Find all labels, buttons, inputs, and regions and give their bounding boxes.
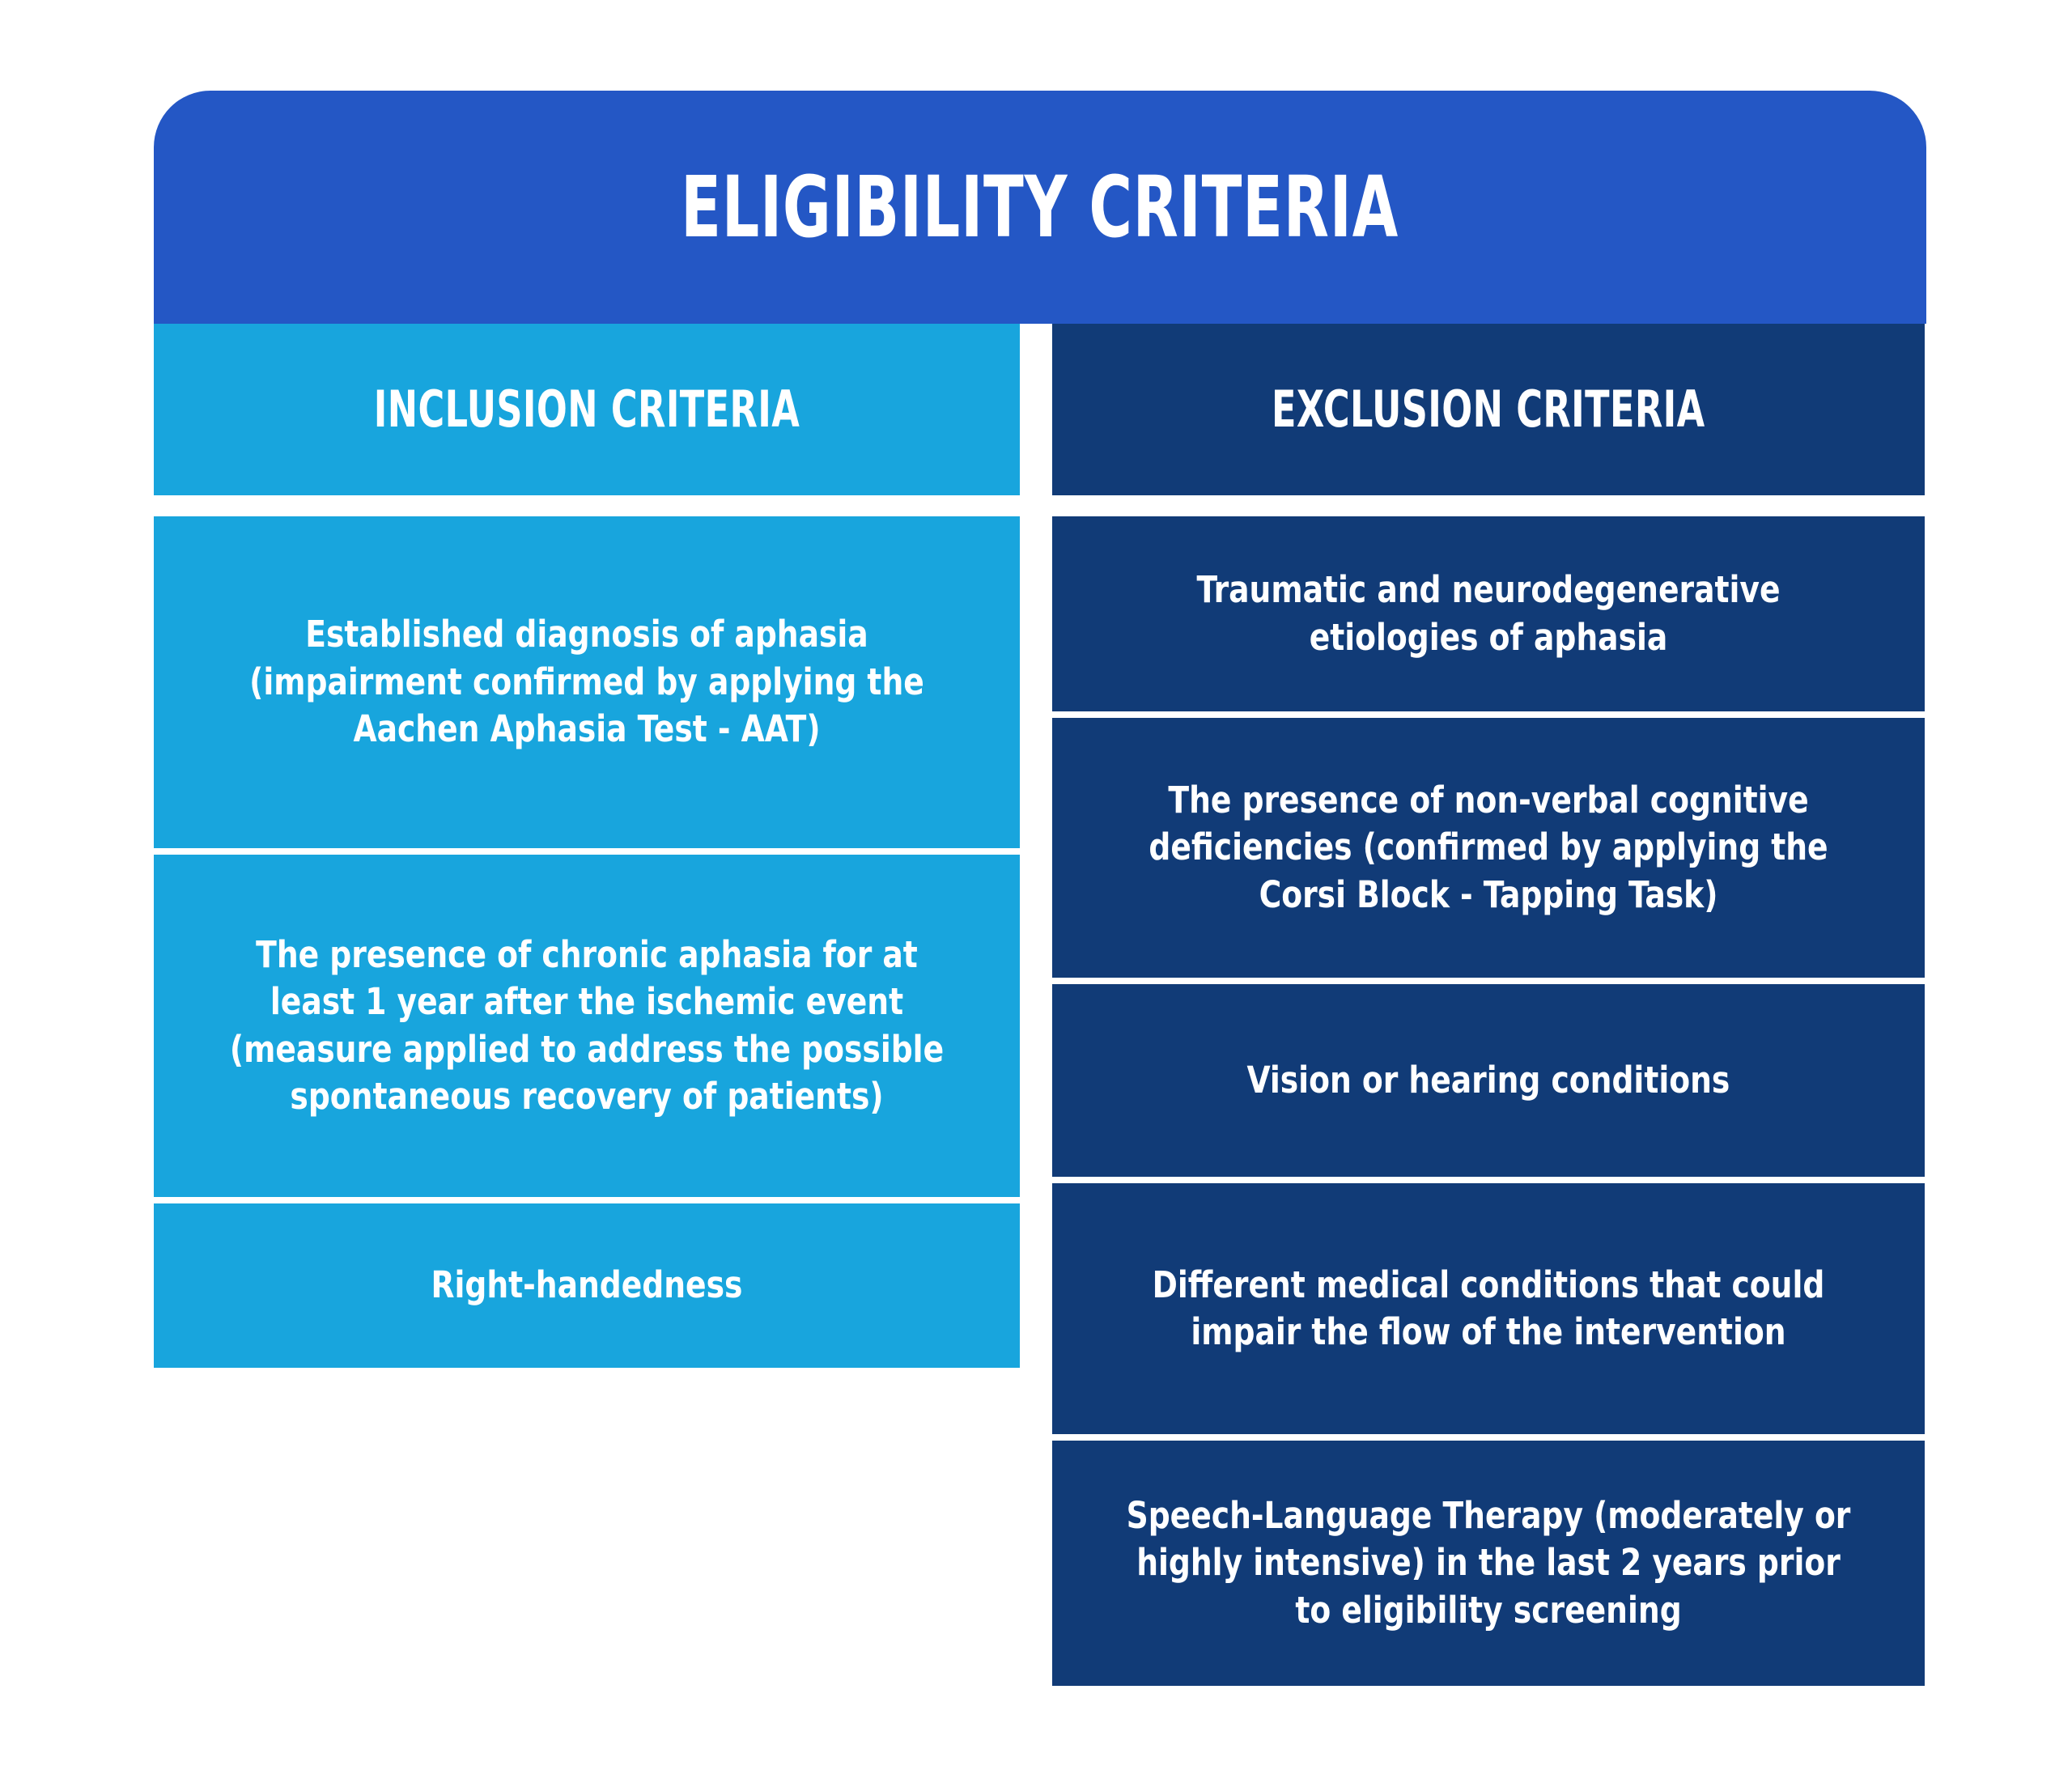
exclusion-criterion-item: Speech-Language Therapy (moderately or h… [1052, 1441, 1925, 1686]
inclusion-criterion-text: Established diagnosis of aphasia (impair… [219, 611, 955, 753]
eligibility-criteria-figure: ELIGIBILITY CRITERIA INCLUSION CRITERIA … [0, 0, 2072, 1787]
inclusion-header-label: INCLUSION CRITERIA [374, 384, 800, 435]
exclusion-criteria-list: Traumatic and neurodegenerative etiologi… [1052, 516, 1925, 1686]
exclusion-criterion-text: Different medical conditions that could … [1118, 1262, 1860, 1356]
inclusion-criterion-text: The presence of chronic aphasia for at l… [219, 932, 955, 1121]
exclusion-criterion-text: Speech-Language Therapy (moderately or h… [1118, 1492, 1860, 1635]
inclusion-criteria-column: INCLUSION CRITERIA Established diagnosis… [154, 324, 1020, 1368]
page-title: ELIGIBILITY CRITERIA [681, 165, 1399, 249]
exclusion-column-header: EXCLUSION CRITERIA [1052, 324, 1925, 495]
exclusion-criterion-item: Traumatic and neurodegenerative etiologi… [1052, 516, 1925, 711]
exclusion-criterion-item: Different medical conditions that could … [1052, 1183, 1925, 1434]
inclusion-criterion-item: The presence of chronic aphasia for at l… [154, 855, 1020, 1197]
inclusion-criteria-list: Established diagnosis of aphasia (impair… [154, 516, 1020, 1368]
inclusion-column-header: INCLUSION CRITERIA [154, 324, 1020, 495]
exclusion-header-label: EXCLUSION CRITERIA [1272, 384, 1705, 435]
exclusion-criterion-text: Traumatic and neurodegenerative etiologi… [1118, 567, 1860, 661]
inclusion-criterion-text: Right-handedness [431, 1262, 743, 1309]
inclusion-criterion-item: Right-handedness [154, 1203, 1020, 1368]
figure-title-banner: ELIGIBILITY CRITERIA [154, 91, 1926, 324]
inclusion-criterion-item: Established diagnosis of aphasia (impair… [154, 516, 1020, 848]
exclusion-criterion-item: Vision or hearing conditions [1052, 984, 1925, 1177]
exclusion-criterion-text: The presence of non-verbal cognitive def… [1118, 777, 1860, 919]
exclusion-criterion-item: The presence of non-verbal cognitive def… [1052, 718, 1925, 978]
exclusion-criterion-text: Vision or hearing conditions [1247, 1057, 1730, 1105]
exclusion-criteria-column: EXCLUSION CRITERIA Traumatic and neurode… [1052, 324, 1925, 1686]
